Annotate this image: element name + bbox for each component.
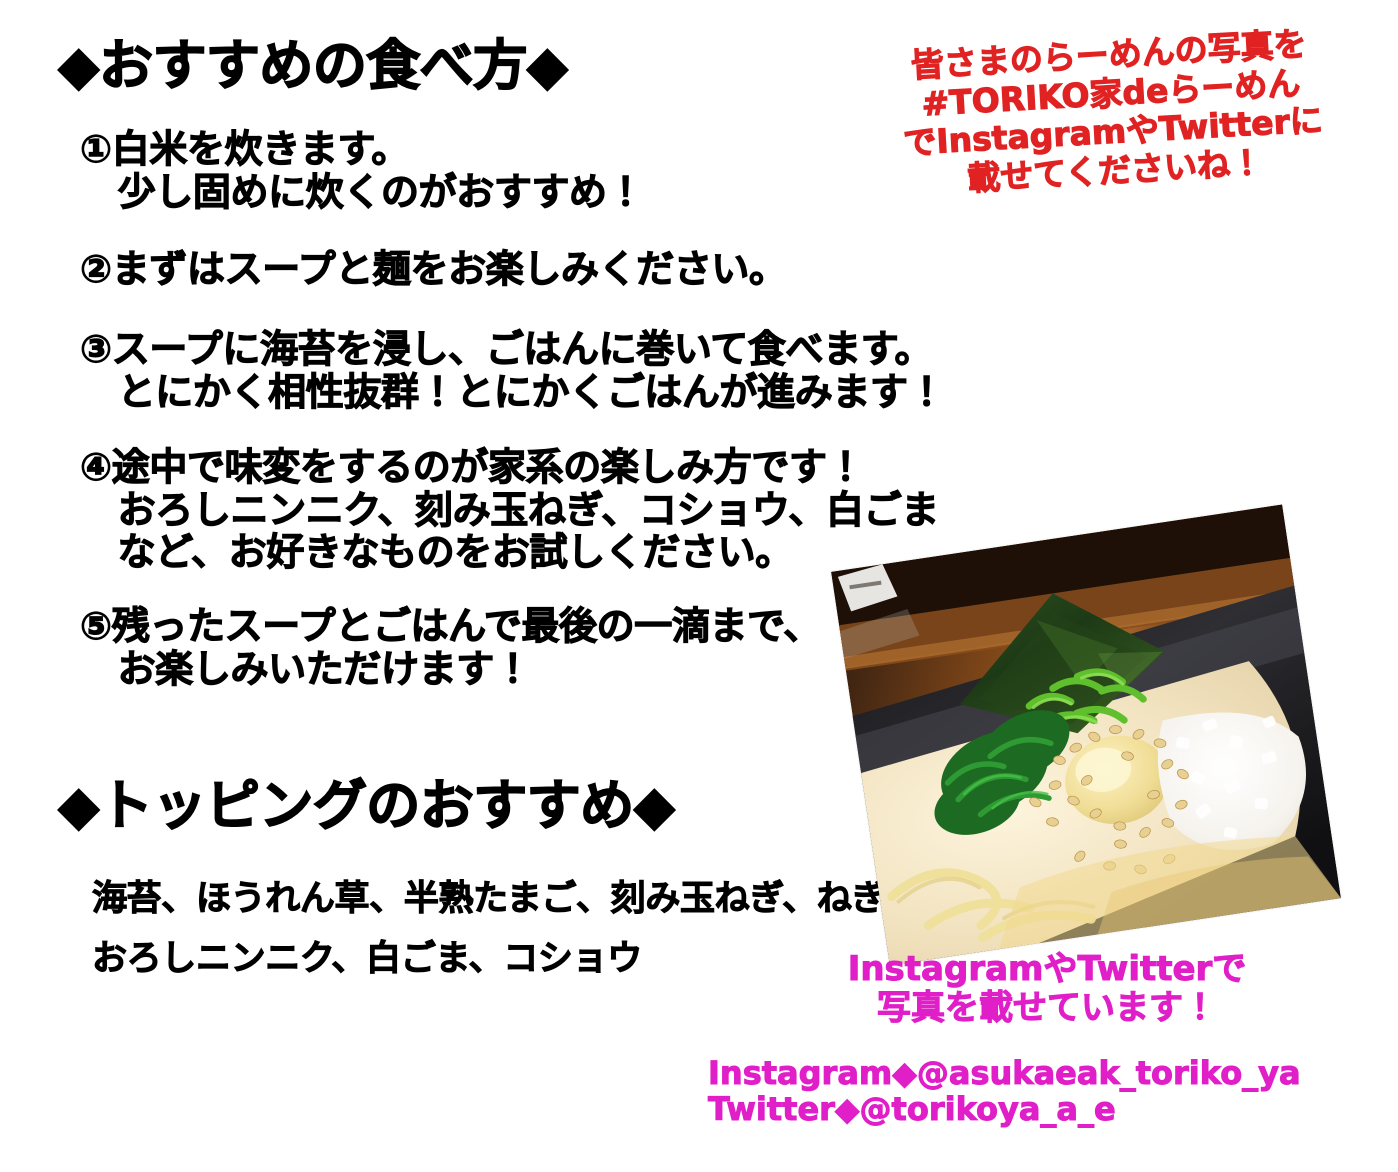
ramen-photo-artwork <box>831 504 1341 965</box>
poster-canvas: ◆おすすめの食べ方◆ ①白米を炊きます。 少し固めに炊くのがおすすめ！ ②まずは… <box>0 0 1398 1172</box>
eating-guide-heading: ◆おすすめの食べ方◆ <box>58 38 568 95</box>
social-promo-text: InstagramやTwitterで 写真を載せています！ <box>812 950 1282 1029</box>
eating-step-4: ④途中で味変をするのが家系の楽しみ方です！ おろしニンニク、刻み玉ねぎ、コショウ… <box>80 446 939 574</box>
eating-step-1: ①白米を炊きます。 少し固めに炊くのがおすすめ！ <box>80 128 644 213</box>
toppings-line-2: おろしニンニク、白ごま、コショウ <box>92 940 642 979</box>
hashtag-request-callout: 皆さまのらーめんの写真を #TORIKO家deらーめん でInstagramやT… <box>848 22 1376 205</box>
toppings-line-1: 海苔、ほうれん草、半熟たまご、刻み玉ねぎ、ねぎ <box>92 880 886 919</box>
ramen-photo <box>831 504 1341 965</box>
eating-step-3: ③スープに海苔を浸し、ごはんに巻いて食べます。 とにかく相性抜群！とにかくごはん… <box>80 328 945 413</box>
toppings-heading: ◆トッピングのおすすめ◆ <box>58 778 675 835</box>
eating-step-5: ⑤残ったスープとごはんで最後の一滴まで、 お楽しみいただけます！ <box>80 605 821 690</box>
social-handles-text[interactable]: Instagram◆@asukaeak_toriko_ya Twitter◆@t… <box>708 1056 1301 1128</box>
eating-step-2: ②まずはスープと麺をお楽しみください。 <box>80 248 787 291</box>
